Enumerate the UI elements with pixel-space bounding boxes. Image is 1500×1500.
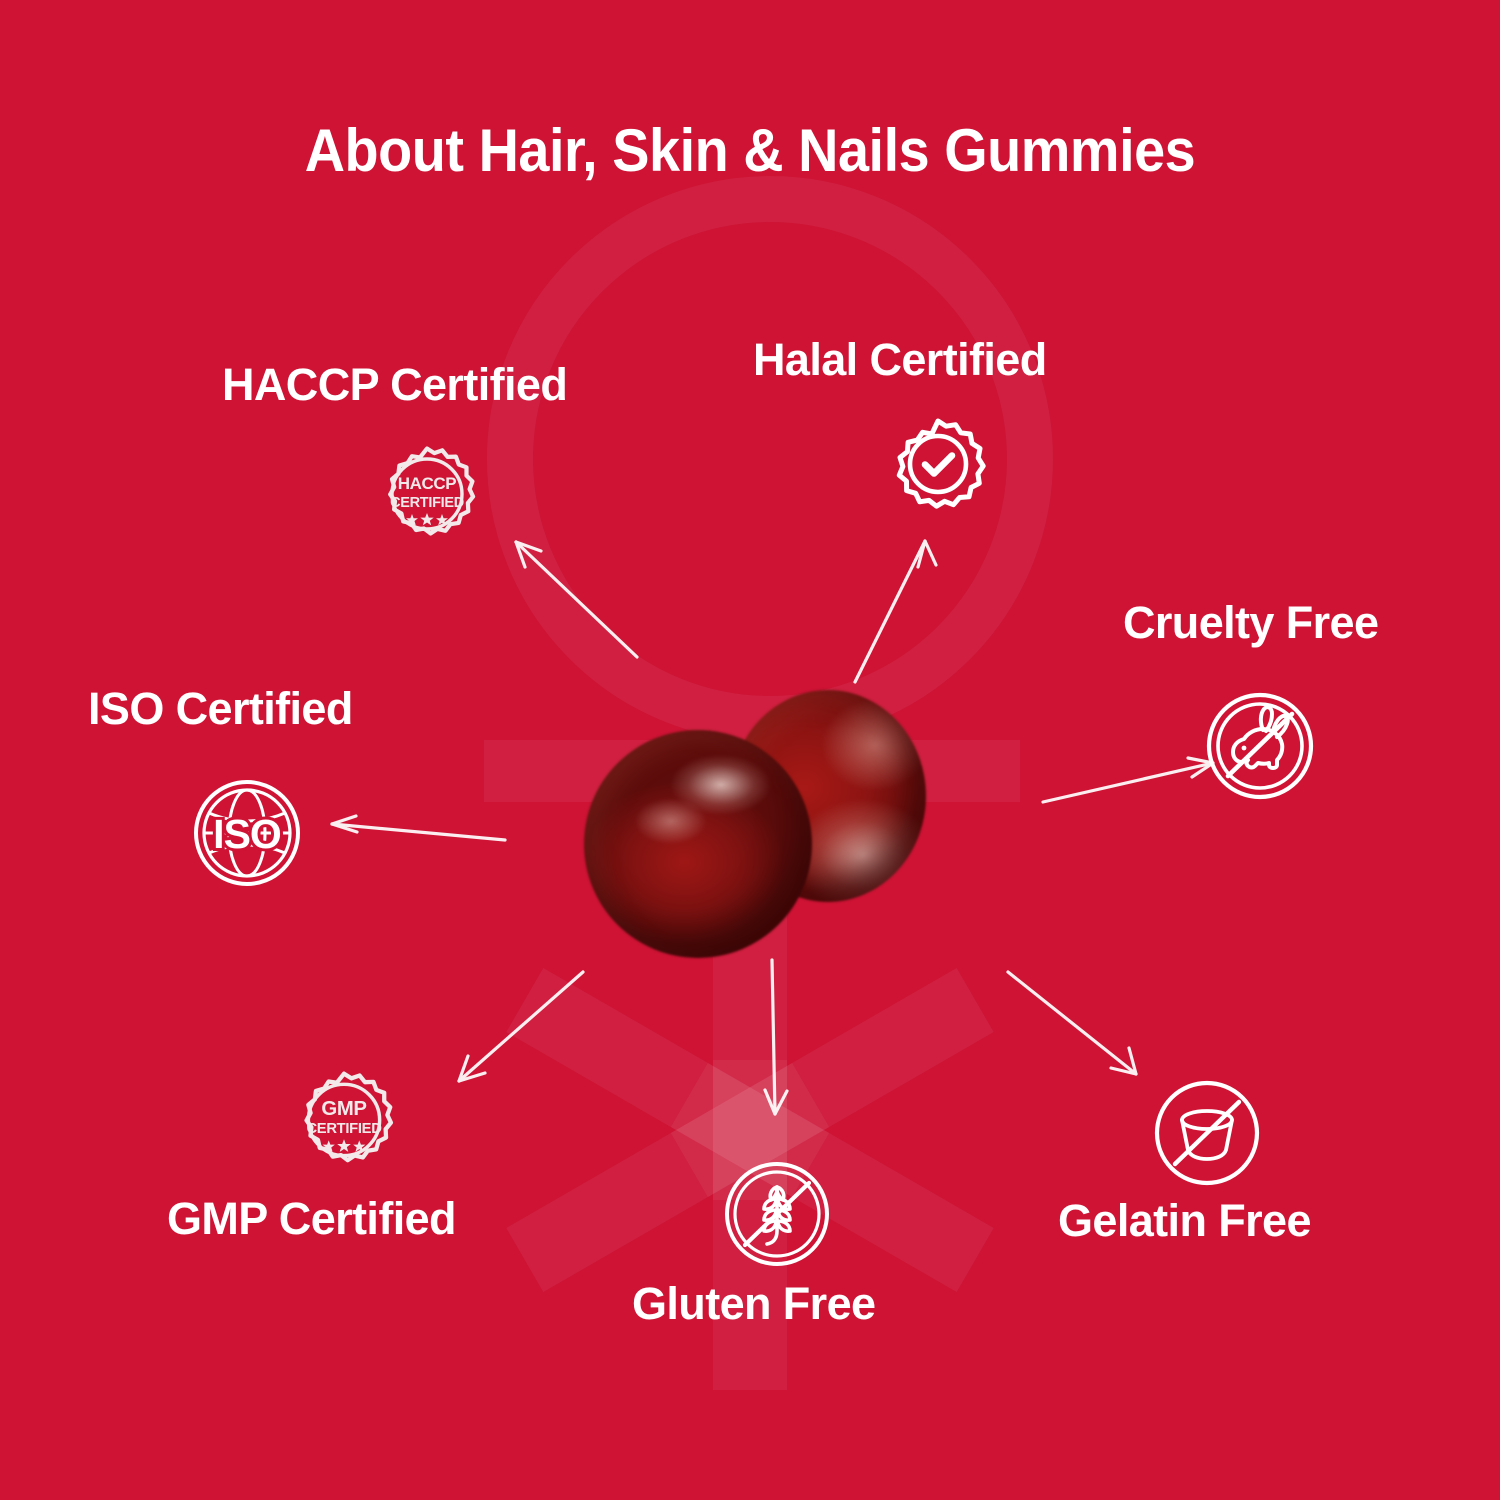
svg-text:CERTIFIED: CERTIFIED: [390, 495, 464, 511]
iso-certified-globe-icon: ISO: [189, 775, 305, 891]
svg-text:GMP: GMP: [321, 1098, 366, 1120]
badge-label-gmp: GMP Certified: [167, 1196, 456, 1241]
halal-certified-checkmark-badge-icon: [882, 415, 994, 527]
svg-text:CERTIFIED: CERTIFIED: [306, 1121, 382, 1137]
badge-label-cruelty-free: Cruelty Free: [1123, 600, 1378, 645]
badge-label-halal: Halal Certified: [753, 337, 1047, 382]
svg-text:HACCP: HACCP: [398, 474, 457, 493]
gummy-front: [584, 730, 812, 958]
gelatin-free-no-icon: [1148, 1074, 1266, 1192]
badge-label-iso: ISO Certified: [88, 686, 353, 731]
infographic-canvas: About Hair, Skin & Nails Gummies: [0, 0, 1500, 1500]
gmp-certified-seal-icon: GMP CERTIFIED: [288, 1066, 400, 1178]
haccp-certified-seal-icon: HACCP CERTIFIED: [372, 441, 482, 551]
badge-label-haccp: HACCP Certified: [222, 362, 567, 407]
cruelty-free-rabbit-no-icon: [1200, 686, 1320, 806]
svg-text:ISO: ISO: [213, 811, 281, 857]
badge-label-gluten-free: Gluten Free: [632, 1281, 875, 1326]
gluten-free-wheat-no-icon: [718, 1155, 836, 1273]
badge-label-gelatin-free: Gelatin Free: [1058, 1198, 1311, 1243]
gummies-image: [582, 688, 927, 960]
